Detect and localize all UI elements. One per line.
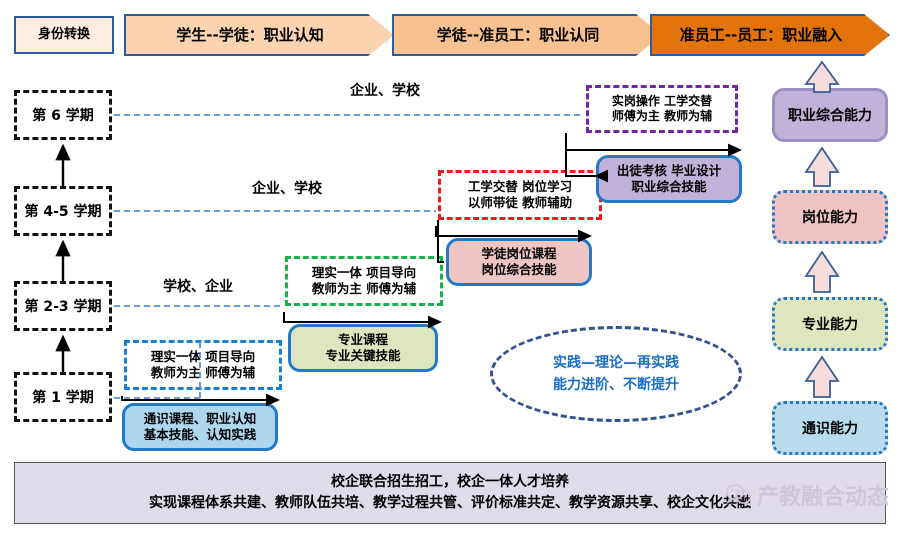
semester-label: 第 1 学期: [32, 387, 94, 407]
semester-label: 第 4-5 学期: [24, 201, 101, 221]
course-line-1: 专业课程: [338, 332, 388, 348]
course-box-capstone: 出徒考核 毕业设计 职业综合技能: [596, 155, 742, 203]
watermark-text: 产教融合动态: [757, 479, 889, 511]
method-box-purple: 实岗操作 工学交替 师傅为主 教师为辅: [586, 85, 738, 133]
course-line-2: 基本技能、认知实践: [144, 427, 257, 443]
method-line-1: 实岗操作 工学交替: [612, 94, 712, 109]
diagram-canvas: 身份转换 学生--学徒：职业认知 学徒--准员工：职业认同 准员工--员工：职业…: [0, 0, 900, 537]
stage-label: 身份转换: [38, 28, 90, 42]
connector-label-text: 企业、学校: [350, 83, 420, 99]
capability-label: 职业综合能力: [788, 105, 872, 125]
stage-chevron-0: 身份转换: [14, 16, 114, 54]
stage-label: 准员工--员工：职业融入: [680, 27, 842, 44]
capability-label: 通识能力: [802, 418, 858, 438]
connector-label-text: 学校、企业: [163, 279, 233, 295]
semester-box-4-5: 第 4-5 学期: [14, 186, 112, 236]
course-box-general: 通识课程、职业认知 基本技能、认知实践: [122, 403, 278, 451]
oval-line-2: 能力进阶、不断提升: [553, 374, 679, 396]
banner-line-1: 校企联合招生招工，校企一体人才培养: [331, 472, 569, 493]
stage-chevron-2: 学徒--准员工：职业认同: [392, 14, 662, 56]
capability-box-general: 通识能力: [772, 401, 888, 455]
stage-label: 学生--学徒：职业认知: [176, 27, 323, 44]
connector-label-text: 企业、学校: [252, 181, 322, 197]
course-line-2: 专业关键技能: [325, 348, 400, 364]
method-box-blue: 理实一体 项目导向 教师为主 师傅为辅: [124, 340, 282, 390]
capability-box-comprehensive: 职业综合能力: [772, 88, 888, 142]
course-line-2: 职业综合技能: [631, 179, 706, 195]
method-line-2: 教师为主 师傅为辅: [151, 365, 255, 381]
connector-label-mid: 企业、学校: [252, 178, 322, 198]
connector-label-low: 学校、企业: [163, 276, 233, 296]
capability-box-major: 专业能力: [772, 297, 888, 351]
stage-chevron-3: 准员工--员工：职业融入: [650, 14, 890, 56]
method-line-2: 教师为主 师傅为辅: [312, 281, 416, 297]
semester-box-2-3: 第 2-3 学期: [14, 281, 112, 331]
cycle-oval: 实践—理论—再实践 能力进阶、不断提升: [490, 326, 742, 422]
method-box-red: 工学交替 岗位学习 以师带徒 教师辅助: [438, 170, 602, 220]
method-line-2: 师傅为主 教师为辅: [612, 109, 712, 124]
course-box-apprentice-post: 学徒岗位课程 岗位综合技能: [446, 238, 592, 286]
course-line-1: 出徒考核 毕业设计: [617, 163, 721, 179]
course-line-1: 通识课程、职业认知: [144, 411, 257, 427]
semester-box-1: 第 1 学期: [14, 372, 112, 422]
course-box-major: 专业课程 专业关键技能: [288, 324, 438, 372]
method-line-1: 工学交替 岗位学习: [468, 179, 572, 195]
connector-label-top: 企业、学校: [350, 80, 420, 100]
semester-box-6: 第 6 学期: [14, 90, 112, 140]
oval-line-1: 实践—理论—再实践: [553, 352, 679, 374]
stage-label: 学徒--准员工：职业认同: [437, 27, 599, 44]
capability-label: 专业能力: [802, 314, 858, 334]
method-line-2: 以师带徒 教师辅助: [468, 195, 572, 211]
method-line-1: 理实一体 项目导向: [151, 349, 255, 365]
course-line-2: 岗位综合技能: [481, 262, 556, 278]
semester-label: 第 6 学期: [32, 105, 94, 125]
banner-line-2: 实现课程体系共建、教师队伍共培、教学过程共管、评价标准共定、教学资源共享、校企文…: [149, 493, 751, 514]
stage-chevron-1: 学生--学徒：职业认知: [124, 14, 394, 56]
watermark: 产教融合动态: [726, 479, 889, 511]
course-line-1: 学徒岗位课程: [481, 246, 556, 262]
capability-label: 岗位能力: [802, 207, 858, 227]
capability-box-post: 岗位能力: [772, 190, 888, 244]
method-box-green: 理实一体 项目导向 教师为主 师傅为辅: [285, 256, 443, 306]
wechat-icon: [726, 484, 752, 506]
semester-label: 第 2-3 学期: [24, 296, 101, 316]
method-line-1: 理实一体 项目导向: [312, 265, 416, 281]
